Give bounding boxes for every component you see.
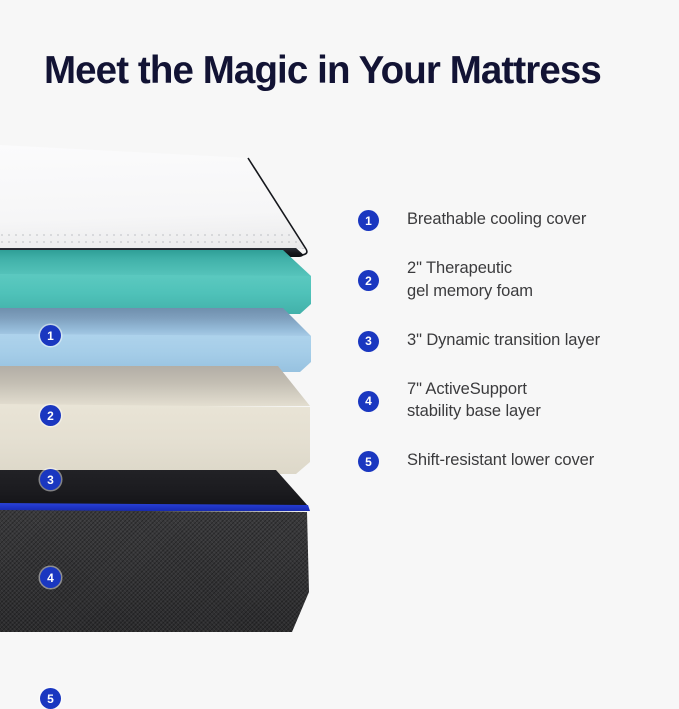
base-top-surface <box>0 366 316 406</box>
mattress-layer-therapeutic-gel-memory-foam <box>0 250 316 316</box>
legend-item-2: 2 2" Therapeutic gel memory foam <box>358 257 658 303</box>
legend-badge-1: 1 <box>358 210 379 231</box>
legend-label-4: 7" ActiveSupport stability base layer <box>407 378 541 424</box>
diagram-badge-1: 1 <box>40 325 61 346</box>
diagram-badge-5: 5 <box>40 688 61 709</box>
page-title: Meet the Magic in Your Mattress <box>44 49 644 92</box>
mattress-layer-shift-resistant-lower-cover <box>0 470 320 632</box>
legend-item-1: 1 Breathable cooling cover <box>358 208 658 231</box>
legend-badge-3: 3 <box>358 331 379 352</box>
diagram-badge-4: 4 <box>40 567 61 588</box>
mattress-layer-breathable-cooling-cover <box>0 145 310 257</box>
legend-badge-4: 4 <box>358 391 379 412</box>
foam-top-surface <box>0 250 316 276</box>
legend-item-4: 4 7" ActiveSupport stability base layer <box>358 378 658 424</box>
diagram-badge-2: 2 <box>40 405 61 426</box>
legend-badge-2: 2 <box>358 270 379 291</box>
cover-edge-outline <box>0 145 310 257</box>
diagram-badge-3: 3 <box>40 469 61 490</box>
legend-item-3: 3 3" Dynamic transition layer <box>358 329 658 352</box>
mattress-layer-diagram: 1 2 3 4 5 <box>0 140 340 640</box>
legend-label-5: Shift-resistant lower cover <box>407 449 594 472</box>
legend-label-1: Breathable cooling cover <box>407 208 586 231</box>
legend-badge-5: 5 <box>358 451 379 472</box>
legend-label-3: 3" Dynamic transition layer <box>407 329 600 352</box>
legend-item-5: 5 Shift-resistant lower cover <box>358 449 658 472</box>
layer-legend-list: 1 Breathable cooling cover 2 2" Therapeu… <box>358 208 658 498</box>
legend-label-2: 2" Therapeutic gel memory foam <box>407 257 533 303</box>
